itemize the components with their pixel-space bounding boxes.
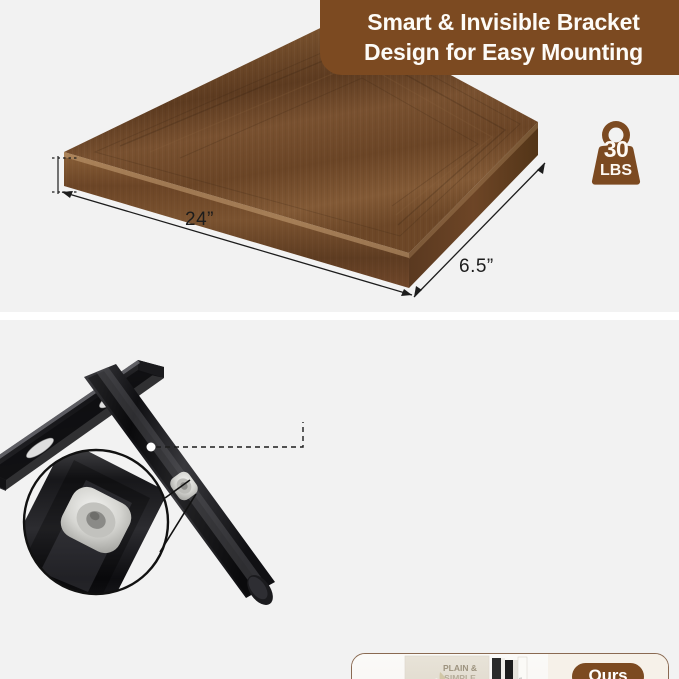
ours-info: Ours DEEPER & THICKER Create more storag… [548, 654, 668, 679]
ours-photo: PLAIN & SIMPLE KIM BRENNEMAN THE ART OF … [352, 654, 548, 679]
ours-photo-svg: PLAIN & SIMPLE KIM BRENNEMAN THE ART OF … [352, 654, 548, 679]
shelf-depth-label: 6.5” [459, 256, 494, 278]
comparison-card-ours: PLAIN & SIMPLE KIM BRENNEMAN THE ART OF … [351, 653, 669, 679]
header-banner: Smart & Invisible Bracket Design for Eas… [320, 0, 679, 75]
bracket-svg [0, 320, 345, 620]
header-title-line-1: Smart & Invisible Bracket [340, 7, 667, 37]
top-hero-section: 24” 6.5” 30 LBS Smart & Invisible Bracke… [0, 0, 679, 312]
ours-book-slim-2 [505, 660, 513, 679]
military-callout-leader [147, 422, 304, 452]
ours-book-title-line-2: SIMPLE [444, 673, 476, 679]
features-section: Made of Military Grade Iron Unique Rubbe… [0, 320, 679, 679]
product-infographic: 24” 6.5” 30 LBS Smart & Invisible Bracke… [0, 0, 679, 679]
ours-book-title-line-1: PLAIN & [443, 663, 477, 673]
ours-book-slim-1 [492, 658, 501, 679]
bracket-illustration [0, 320, 345, 620]
ours-book-slim-3 [518, 657, 527, 679]
header-title-line-2: Design for Easy Mounting [340, 37, 667, 67]
weight-capacity-badge: 30 LBS [578, 115, 654, 191]
ours-pill-badge: Ours [572, 663, 645, 679]
weight-icon [578, 115, 654, 191]
shelf-length-label: 24” [185, 209, 214, 231]
